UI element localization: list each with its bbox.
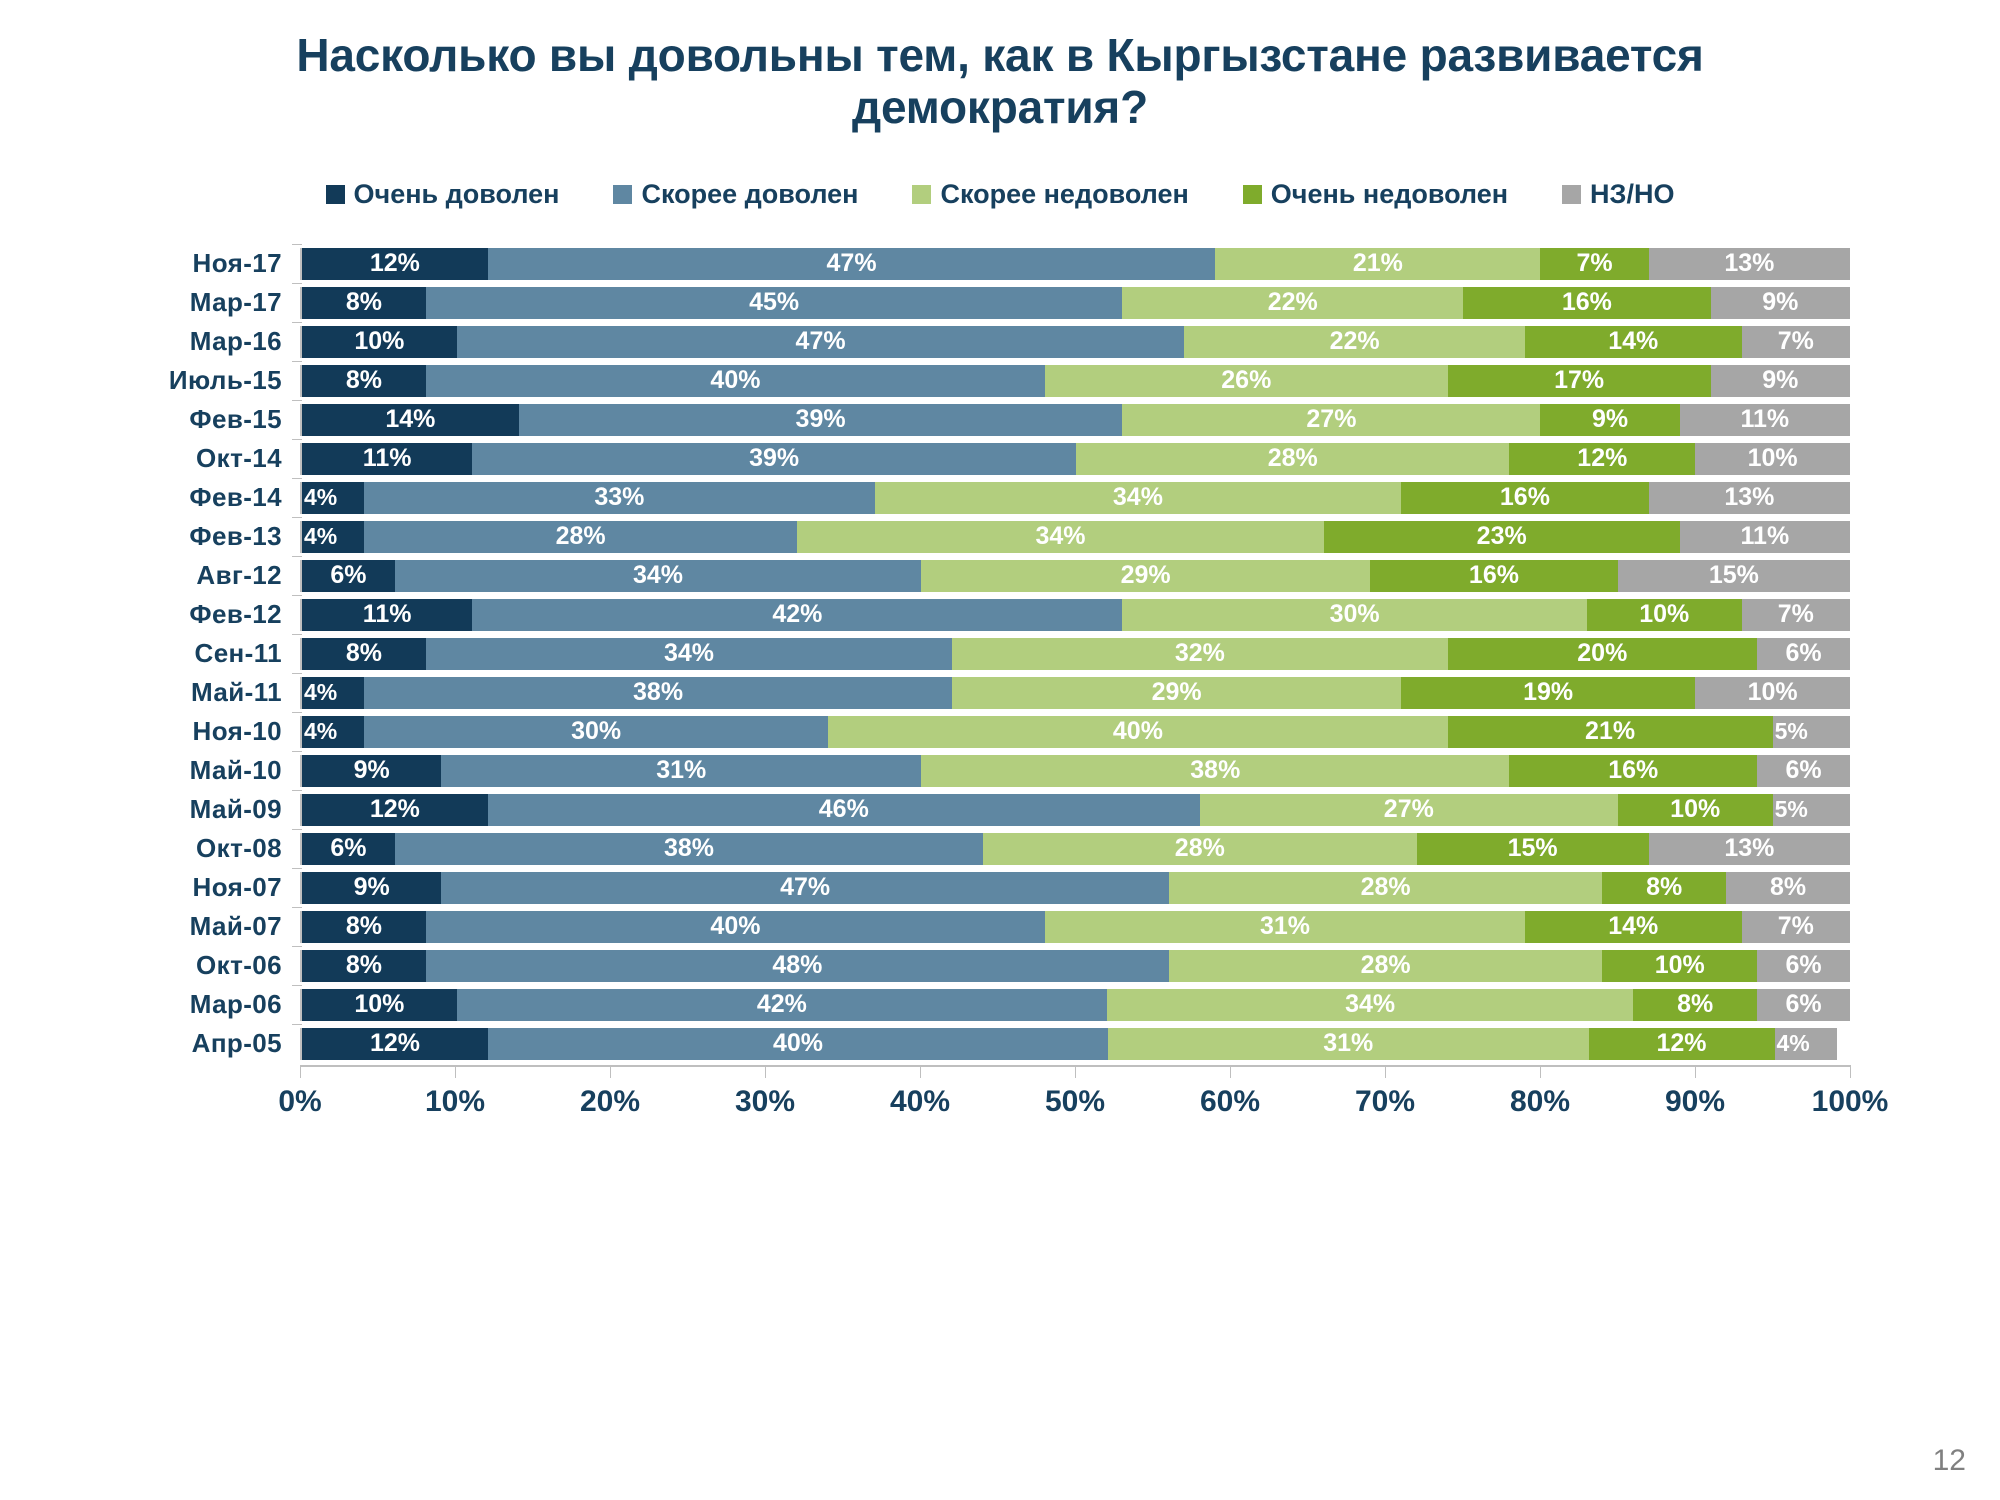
- y-axis-tick: [292, 244, 302, 245]
- legend-item-dk_na[interactable]: НЗ/НО: [1562, 179, 1674, 210]
- bar-segment-very_dissatisfied: 10%: [1618, 794, 1773, 826]
- y-axis-tick: [292, 439, 302, 440]
- bar-segment-very_dissatisfied: 12%: [1589, 1028, 1775, 1060]
- x-axis-track: 0%10%20%30%40%50%60%70%80%90%100%: [300, 1065, 1850, 1137]
- bar-segment-somewhat_satisfied: 34%: [395, 560, 921, 592]
- bar-segment-somewhat_satisfied: 47%: [488, 248, 1216, 280]
- bar-segment-dk_na: 7%: [1742, 599, 1850, 631]
- y-axis-tick: [292, 283, 302, 284]
- stacked-bar: 4%33%34%16%13%: [300, 482, 1850, 514]
- y-axis-tick: [292, 595, 302, 596]
- chart-row: Фев-144%33%34%16%13%: [0, 478, 2000, 517]
- x-axis-tick: [1075, 1065, 1076, 1078]
- chart-row: Окт-086%38%28%15%13%: [0, 829, 2000, 868]
- chart-row: Фев-1514%39%27%9%11%: [0, 400, 2000, 439]
- bar-segment-dk_na: 9%: [1711, 287, 1850, 319]
- bar-segment-very_dissatisfied: 16%: [1509, 755, 1757, 787]
- bar-segment-very_dissatisfied: 17%: [1448, 365, 1711, 397]
- row-label: Ноя-10: [0, 716, 300, 747]
- bar-segment-very_dissatisfied: 10%: [1602, 950, 1757, 982]
- x-axis-tick-label: 50%: [1045, 1085, 1105, 1119]
- x-axis-tick: [610, 1065, 611, 1078]
- bar-segment-very_dissatisfied: 23%: [1324, 521, 1680, 553]
- x-axis-tick: [1850, 1065, 1851, 1078]
- stacked-bar: 4%38%29%19%10%: [300, 677, 1850, 709]
- legend-swatch-icon: [326, 185, 345, 204]
- bar-segment-somewhat_satisfied: 30%: [364, 716, 828, 748]
- bar-segment-very_satisfied: 11%: [302, 599, 472, 631]
- x-axis-tick-label: 80%: [1510, 1085, 1570, 1119]
- bar-segment-very_satisfied: 8%: [302, 365, 426, 397]
- bar-segment-somewhat_dissatisfied: 28%: [1169, 950, 1602, 982]
- x-axis-tick-label: 70%: [1355, 1085, 1415, 1119]
- x-axis-tick-label: 0%: [278, 1085, 321, 1119]
- bar-segment-very_satisfied: 8%: [302, 638, 426, 670]
- bar-segment-somewhat_satisfied: 45%: [426, 287, 1123, 319]
- bar-segment-dk_na: 10%: [1695, 677, 1850, 709]
- bar-segment-dk_na: 11%: [1680, 521, 1850, 553]
- bar-segment-dk_na: 13%: [1649, 833, 1850, 865]
- legend-item-very_satisfied[interactable]: Очень доволен: [326, 179, 560, 210]
- bar-segment-somewhat_satisfied: 38%: [395, 833, 983, 865]
- stacked-bar: 12%47%21%7%13%: [300, 248, 1850, 280]
- y-axis-tick: [292, 478, 302, 479]
- bar-segment-dk_na: 6%: [1757, 638, 1850, 670]
- chart-row: Июль-158%40%26%17%9%: [0, 361, 2000, 400]
- legend-item-very_dissatisfied[interactable]: Очень недоволен: [1243, 179, 1508, 210]
- x-axis: 0%10%20%30%40%50%60%70%80%90%100%: [0, 1065, 2000, 1137]
- x-axis-tick: [1695, 1065, 1696, 1078]
- row-label: Ноя-17: [0, 248, 300, 279]
- bar-segment-very_satisfied: 4%: [302, 482, 364, 514]
- bar-segment-somewhat_dissatisfied: 22%: [1122, 287, 1463, 319]
- bar-segment-very_dissatisfied: 19%: [1401, 677, 1695, 709]
- bar-segment-somewhat_satisfied: 48%: [426, 950, 1169, 982]
- x-axis-tick: [455, 1065, 456, 1078]
- row-label: Мар-06: [0, 989, 300, 1020]
- bar-segment-very_satisfied: 14%: [302, 404, 519, 436]
- bar-segment-somewhat_dissatisfied: 29%: [921, 560, 1370, 592]
- legend-swatch-icon: [613, 185, 632, 204]
- bar-segment-somewhat_satisfied: 42%: [457, 989, 1107, 1021]
- x-axis-spacer: [0, 1065, 300, 1137]
- stacked-bar: 8%48%28%10%6%: [300, 950, 1850, 982]
- bar-segment-very_dissatisfied: 10%: [1587, 599, 1742, 631]
- bar-segment-somewhat_dissatisfied: 28%: [1169, 872, 1602, 904]
- bar-segment-dk_na: 5%: [1773, 794, 1850, 826]
- chart-row: Ноя-1712%47%21%7%13%: [0, 244, 2000, 283]
- x-axis-tick: [1540, 1065, 1541, 1078]
- bar-segment-somewhat_dissatisfied: 34%: [1107, 989, 1633, 1021]
- chart-row: Май-078%40%31%14%7%: [0, 907, 2000, 946]
- bar-segment-very_satisfied: 12%: [302, 794, 488, 826]
- bar-segment-somewhat_dissatisfied: 26%: [1045, 365, 1447, 397]
- y-axis-tick: [292, 673, 302, 674]
- stacked-bar: 8%40%26%17%9%: [300, 365, 1850, 397]
- chart-row: Май-0912%46%27%10%5%: [0, 790, 2000, 829]
- stacked-bar: 12%46%27%10%5%: [300, 794, 1850, 826]
- legend-swatch-icon: [1243, 185, 1262, 204]
- x-axis-tick: [920, 1065, 921, 1078]
- bar-segment-somewhat_dissatisfied: 31%: [1045, 911, 1525, 943]
- stacked-bar: 10%42%34%8%6%: [300, 989, 1850, 1021]
- bar-segment-dk_na: 11%: [1680, 404, 1850, 436]
- x-axis-tick-label: 20%: [580, 1085, 640, 1119]
- bar-segment-very_satisfied: 10%: [302, 326, 457, 358]
- x-axis-tick-label: 100%: [1812, 1085, 1889, 1119]
- y-axis-tick: [292, 517, 302, 518]
- row-label: Фев-14: [0, 482, 300, 513]
- bar-segment-very_satisfied: 11%: [302, 443, 472, 475]
- bar-segment-very_dissatisfied: 8%: [1602, 872, 1726, 904]
- bar-segment-somewhat_dissatisfied: 22%: [1184, 326, 1525, 358]
- bar-segment-somewhat_dissatisfied: 32%: [952, 638, 1447, 670]
- bar-segment-somewhat_satisfied: 47%: [441, 872, 1169, 904]
- bar-segment-dk_na: 8%: [1726, 872, 1850, 904]
- y-axis-tick: [292, 400, 302, 401]
- legend-item-somewhat_satisfied[interactable]: Скорее доволен: [613, 179, 858, 210]
- bar-segment-somewhat_dissatisfied: 28%: [983, 833, 1416, 865]
- bar-segment-dk_na: 9%: [1711, 365, 1850, 397]
- row-label: Ноя-07: [0, 872, 300, 903]
- bar-segment-somewhat_dissatisfied: 38%: [921, 755, 1509, 787]
- bar-segment-somewhat_satisfied: 39%: [472, 443, 1076, 475]
- bar-segment-very_satisfied: 12%: [302, 248, 488, 280]
- stacked-bar: 4%28%34%23%11%: [300, 521, 1850, 553]
- stacked-bar: 9%47%28%8%8%: [300, 872, 1850, 904]
- bar-segment-somewhat_dissatisfied: 28%: [1076, 443, 1509, 475]
- bar-segment-very_satisfied: 12%: [302, 1028, 488, 1060]
- x-axis-tick-label: 10%: [425, 1085, 485, 1119]
- stacked-bar: 6%34%29%16%15%: [300, 560, 1850, 592]
- bar-segment-somewhat_dissatisfied: 31%: [1108, 1028, 1589, 1060]
- bar-segment-dk_na: 13%: [1649, 482, 1850, 514]
- row-label: Авг-12: [0, 560, 300, 591]
- bar-segment-dk_na: 5%: [1773, 716, 1850, 748]
- bar-segment-very_dissatisfied: 16%: [1401, 482, 1649, 514]
- chart-row: Фев-1211%42%30%10%7%: [0, 595, 2000, 634]
- y-axis-tick: [292, 556, 302, 557]
- legend-item-label: Очень недоволен: [1271, 179, 1508, 210]
- bar-segment-somewhat_satisfied: 47%: [457, 326, 1185, 358]
- row-label: Фев-15: [0, 404, 300, 435]
- y-axis-tick: [292, 712, 302, 713]
- row-label: Фев-12: [0, 599, 300, 630]
- chart-row: Окт-068%48%28%10%6%: [0, 946, 2000, 985]
- bar-segment-very_dissatisfied: 15%: [1417, 833, 1649, 865]
- row-label: Апр-05: [0, 1028, 300, 1059]
- bar-segment-somewhat_satisfied: 39%: [519, 404, 1123, 436]
- bar-segment-very_dissatisfied: 7%: [1540, 248, 1648, 280]
- row-label: Май-11: [0, 677, 300, 708]
- bar-segment-very_satisfied: 6%: [302, 833, 395, 865]
- legend-swatch-icon: [912, 185, 931, 204]
- bar-segment-somewhat_satisfied: 28%: [364, 521, 797, 553]
- row-label: Июль-15: [0, 365, 300, 396]
- chart-row: Май-114%38%29%19%10%: [0, 673, 2000, 712]
- legend-item-somewhat_dissatisfied[interactable]: Скорее недоволен: [912, 179, 1188, 210]
- x-axis-tick: [765, 1065, 766, 1078]
- stacked-bar: 12%40%31%12%4%: [300, 1028, 1850, 1060]
- bar-segment-very_dissatisfied: 14%: [1525, 911, 1742, 943]
- legend-swatch-icon: [1562, 185, 1581, 204]
- x-axis-tick-label: 40%: [890, 1085, 950, 1119]
- row-label: Окт-14: [0, 443, 300, 474]
- bar-segment-very_satisfied: 9%: [302, 755, 441, 787]
- bar-segment-very_satisfied: 8%: [302, 911, 426, 943]
- bar-segment-somewhat_dissatisfied: 27%: [1200, 794, 1618, 826]
- bar-segment-very_dissatisfied: 14%: [1525, 326, 1742, 358]
- bar-segment-very_dissatisfied: 9%: [1540, 404, 1679, 436]
- bar-segment-very_dissatisfied: 16%: [1370, 560, 1618, 592]
- row-label: Мар-17: [0, 287, 300, 318]
- bar-segment-somewhat_dissatisfied: 34%: [797, 521, 1323, 553]
- chart-row: Ноя-104%30%40%21%5%: [0, 712, 2000, 751]
- chart-row: Апр-0512%40%31%12%4%: [0, 1024, 2000, 1063]
- y-axis-tick: [292, 829, 302, 830]
- x-axis-tick-label: 30%: [735, 1085, 795, 1119]
- bar-segment-somewhat_satisfied: 34%: [426, 638, 952, 670]
- bar-segment-dk_na: 7%: [1742, 911, 1850, 943]
- bar-segment-very_satisfied: 4%: [302, 677, 364, 709]
- stacked-bar: 6%38%28%15%13%: [300, 833, 1850, 865]
- bar-segment-very_satisfied: 9%: [302, 872, 441, 904]
- bar-segment-somewhat_satisfied: 40%: [426, 911, 1045, 943]
- legend-item-label: Скорее недоволен: [940, 179, 1188, 210]
- chart-row: Авг-126%34%29%16%15%: [0, 556, 2000, 595]
- stacked-bar: 8%45%22%16%9%: [300, 287, 1850, 319]
- x-axis-tick: [1230, 1065, 1231, 1078]
- row-label: Май-10: [0, 755, 300, 786]
- bar-segment-very_dissatisfied: 20%: [1448, 638, 1758, 670]
- bar-segment-very_satisfied: 8%: [302, 287, 426, 319]
- chart-legend: Очень доволенСкорее доволенСкорее недово…: [0, 179, 2000, 210]
- stacked-bar: 11%39%28%12%10%: [300, 443, 1850, 475]
- chart-row: Фев-134%28%34%23%11%: [0, 517, 2000, 556]
- chart-rows: Ноя-1712%47%21%7%13%Мар-178%45%22%16%9%М…: [0, 244, 2000, 1063]
- legend-item-label: Очень доволен: [354, 179, 560, 210]
- y-axis-tick: [292, 322, 302, 323]
- bar-segment-dk_na: 4%: [1775, 1028, 1837, 1060]
- y-axis-tick: [292, 946, 302, 947]
- y-axis-tick: [292, 985, 302, 986]
- bar-segment-somewhat_satisfied: 38%: [364, 677, 952, 709]
- bar-segment-dk_na: 15%: [1618, 560, 1850, 592]
- bar-segment-very_satisfied: 4%: [302, 716, 364, 748]
- x-axis-tick-label: 60%: [1200, 1085, 1260, 1119]
- x-axis-tick: [300, 1065, 301, 1078]
- bar-segment-somewhat_satisfied: 31%: [441, 755, 921, 787]
- row-label: Окт-08: [0, 833, 300, 864]
- bar-segment-somewhat_satisfied: 40%: [426, 365, 1045, 397]
- bar-segment-somewhat_satisfied: 40%: [488, 1028, 1108, 1060]
- bar-segment-somewhat_dissatisfied: 29%: [952, 677, 1401, 709]
- row-label: Мар-16: [0, 326, 300, 357]
- x-axis-tick: [1385, 1065, 1386, 1078]
- y-axis-tick: [292, 907, 302, 908]
- row-label: Окт-06: [0, 950, 300, 981]
- chart-row: Мар-0610%42%34%8%6%: [0, 985, 2000, 1024]
- bar-segment-somewhat_satisfied: 42%: [472, 599, 1122, 631]
- chart-row: Мар-178%45%22%16%9%: [0, 283, 2000, 322]
- stacked-bar: 4%30%40%21%5%: [300, 716, 1850, 748]
- bar-segment-dk_na: 6%: [1757, 950, 1850, 982]
- stacked-bar: 14%39%27%9%11%: [300, 404, 1850, 436]
- bar-segment-very_satisfied: 10%: [302, 989, 457, 1021]
- y-axis-tick: [292, 634, 302, 635]
- legend-item-label: НЗ/НО: [1590, 179, 1674, 210]
- y-axis-tick: [292, 790, 302, 791]
- bar-segment-very_satisfied: 4%: [302, 521, 364, 553]
- stacked-bar: 11%42%30%10%7%: [300, 599, 1850, 631]
- legend-item-label: Скорее доволен: [641, 179, 858, 210]
- stacked-bar: 9%31%38%16%6%: [300, 755, 1850, 787]
- chart-row: Окт-1411%39%28%12%10%: [0, 439, 2000, 478]
- stacked-bar: 10%47%22%14%7%: [300, 326, 1850, 358]
- chart-plot-area: Ноя-1712%47%21%7%13%Мар-178%45%22%16%9%М…: [0, 244, 2000, 1137]
- y-axis-tick: [292, 361, 302, 362]
- bar-segment-very_dissatisfied: 16%: [1463, 287, 1711, 319]
- bar-segment-dk_na: 6%: [1757, 755, 1850, 787]
- bar-segment-somewhat_dissatisfied: 27%: [1122, 404, 1540, 436]
- row-label: Май-07: [0, 911, 300, 942]
- row-label: Май-09: [0, 794, 300, 825]
- bar-segment-dk_na: 6%: [1757, 989, 1850, 1021]
- bar-segment-dk_na: 7%: [1742, 326, 1850, 358]
- bar-segment-dk_na: 13%: [1649, 248, 1850, 280]
- x-axis-tick-label: 90%: [1665, 1085, 1725, 1119]
- chart-row: Май-109%31%38%16%6%: [0, 751, 2000, 790]
- bar-segment-very_satisfied: 6%: [302, 560, 395, 592]
- chart-row: Мар-1610%47%22%14%7%: [0, 322, 2000, 361]
- page-number: 12: [1933, 1444, 1966, 1478]
- chart-row: Ноя-079%47%28%8%8%: [0, 868, 2000, 907]
- page-title: Насколько вы довольны тем, как в Кыргызс…: [150, 0, 1850, 133]
- bar-segment-somewhat_dissatisfied: 40%: [828, 716, 1447, 748]
- row-label: Фев-13: [0, 521, 300, 552]
- bar-segment-somewhat_satisfied: 46%: [488, 794, 1200, 826]
- y-axis-tick: [292, 751, 302, 752]
- bar-segment-very_dissatisfied: 12%: [1509, 443, 1695, 475]
- bar-segment-dk_na: 10%: [1695, 443, 1850, 475]
- bar-segment-somewhat_dissatisfied: 30%: [1122, 599, 1586, 631]
- bar-segment-somewhat_dissatisfied: 34%: [875, 482, 1401, 514]
- chart-row: Сен-118%34%32%20%6%: [0, 634, 2000, 673]
- stacked-bar: 8%34%32%20%6%: [300, 638, 1850, 670]
- bar-segment-very_dissatisfied: 21%: [1448, 716, 1773, 748]
- bar-segment-somewhat_dissatisfied: 21%: [1215, 248, 1540, 280]
- y-axis-tick: [292, 868, 302, 869]
- stacked-bar: 8%40%31%14%7%: [300, 911, 1850, 943]
- y-axis-tick: [292, 1024, 302, 1025]
- row-label: Сен-11: [0, 638, 300, 669]
- bar-segment-very_satisfied: 8%: [302, 950, 426, 982]
- bar-segment-very_dissatisfied: 8%: [1633, 989, 1757, 1021]
- bar-segment-somewhat_satisfied: 33%: [364, 482, 875, 514]
